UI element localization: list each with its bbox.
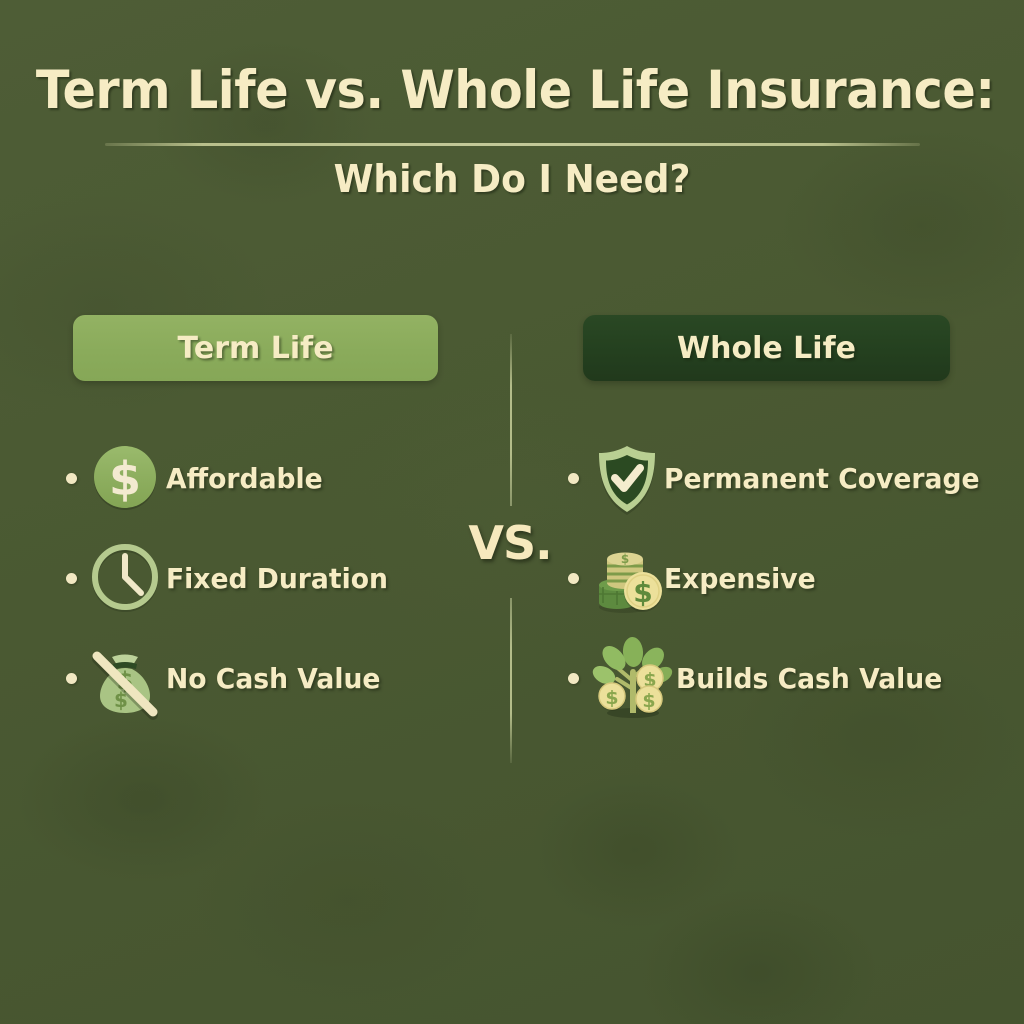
term-life-feature-list: $ Affordable Fixed Duration: [66, 428, 496, 728]
title-divider-rule: [105, 143, 920, 146]
svg-text:$: $: [605, 687, 618, 709]
list-item: $ Affordable: [66, 428, 496, 528]
column-header-whole-life-label: Whole Life: [677, 331, 856, 366]
column-header-term-life-label: Term Life: [177, 331, 333, 366]
shield-check-icon: [590, 441, 664, 515]
bullet-dot: [66, 473, 77, 484]
svg-text:$: $: [633, 576, 652, 609]
feature-label: Fixed Duration: [166, 562, 388, 595]
svg-text:$: $: [109, 452, 141, 506]
coin-stack-icon: $ $: [590, 541, 664, 615]
bullet-dot: [568, 573, 579, 584]
bullet-dot-wrapper: [568, 573, 579, 584]
list-item: $ $ Expensive: [568, 528, 1008, 628]
svg-text:$: $: [642, 690, 655, 712]
dollar-circle-icon: $: [88, 441, 162, 515]
infographic-canvas: Term Life vs. Whole Life Insurance: Whic…: [0, 0, 1024, 1024]
list-item: $ $ $ Builds Cash Value: [568, 628, 1008, 728]
list-item: Permanent Coverage: [568, 428, 1008, 528]
bullet-dot: [66, 673, 77, 684]
column-header-term-life: Term Life: [73, 315, 438, 381]
vertical-divider-bottom: [510, 598, 512, 763]
list-item: $ $ No Cash Value: [66, 628, 496, 728]
money-bag-crossed-out-icon: $ $: [88, 641, 162, 715]
bullet-dot: [568, 473, 579, 484]
column-header-whole-life: Whole Life: [583, 315, 950, 381]
money-tree-icon: $ $ $: [590, 635, 676, 721]
bullet-dot: [568, 673, 579, 684]
feature-label: No Cash Value: [166, 662, 380, 695]
svg-text:$: $: [621, 552, 629, 566]
feature-label: Permanent Coverage: [664, 462, 980, 495]
feature-label: Builds Cash Value: [676, 662, 942, 695]
feature-label: Affordable: [166, 462, 323, 495]
page-subtitle: Which Do I Need?: [26, 157, 999, 201]
clock-icon: [88, 541, 162, 615]
bullet-dot: [66, 573, 77, 584]
list-item: Fixed Duration: [66, 528, 496, 628]
whole-life-feature-list: Permanent Coverage: [568, 428, 1008, 728]
feature-label: Expensive: [664, 562, 816, 595]
vertical-divider-top: [510, 334, 512, 506]
page-title: Term Life vs. Whole Life Insurance:: [36, 60, 988, 121]
